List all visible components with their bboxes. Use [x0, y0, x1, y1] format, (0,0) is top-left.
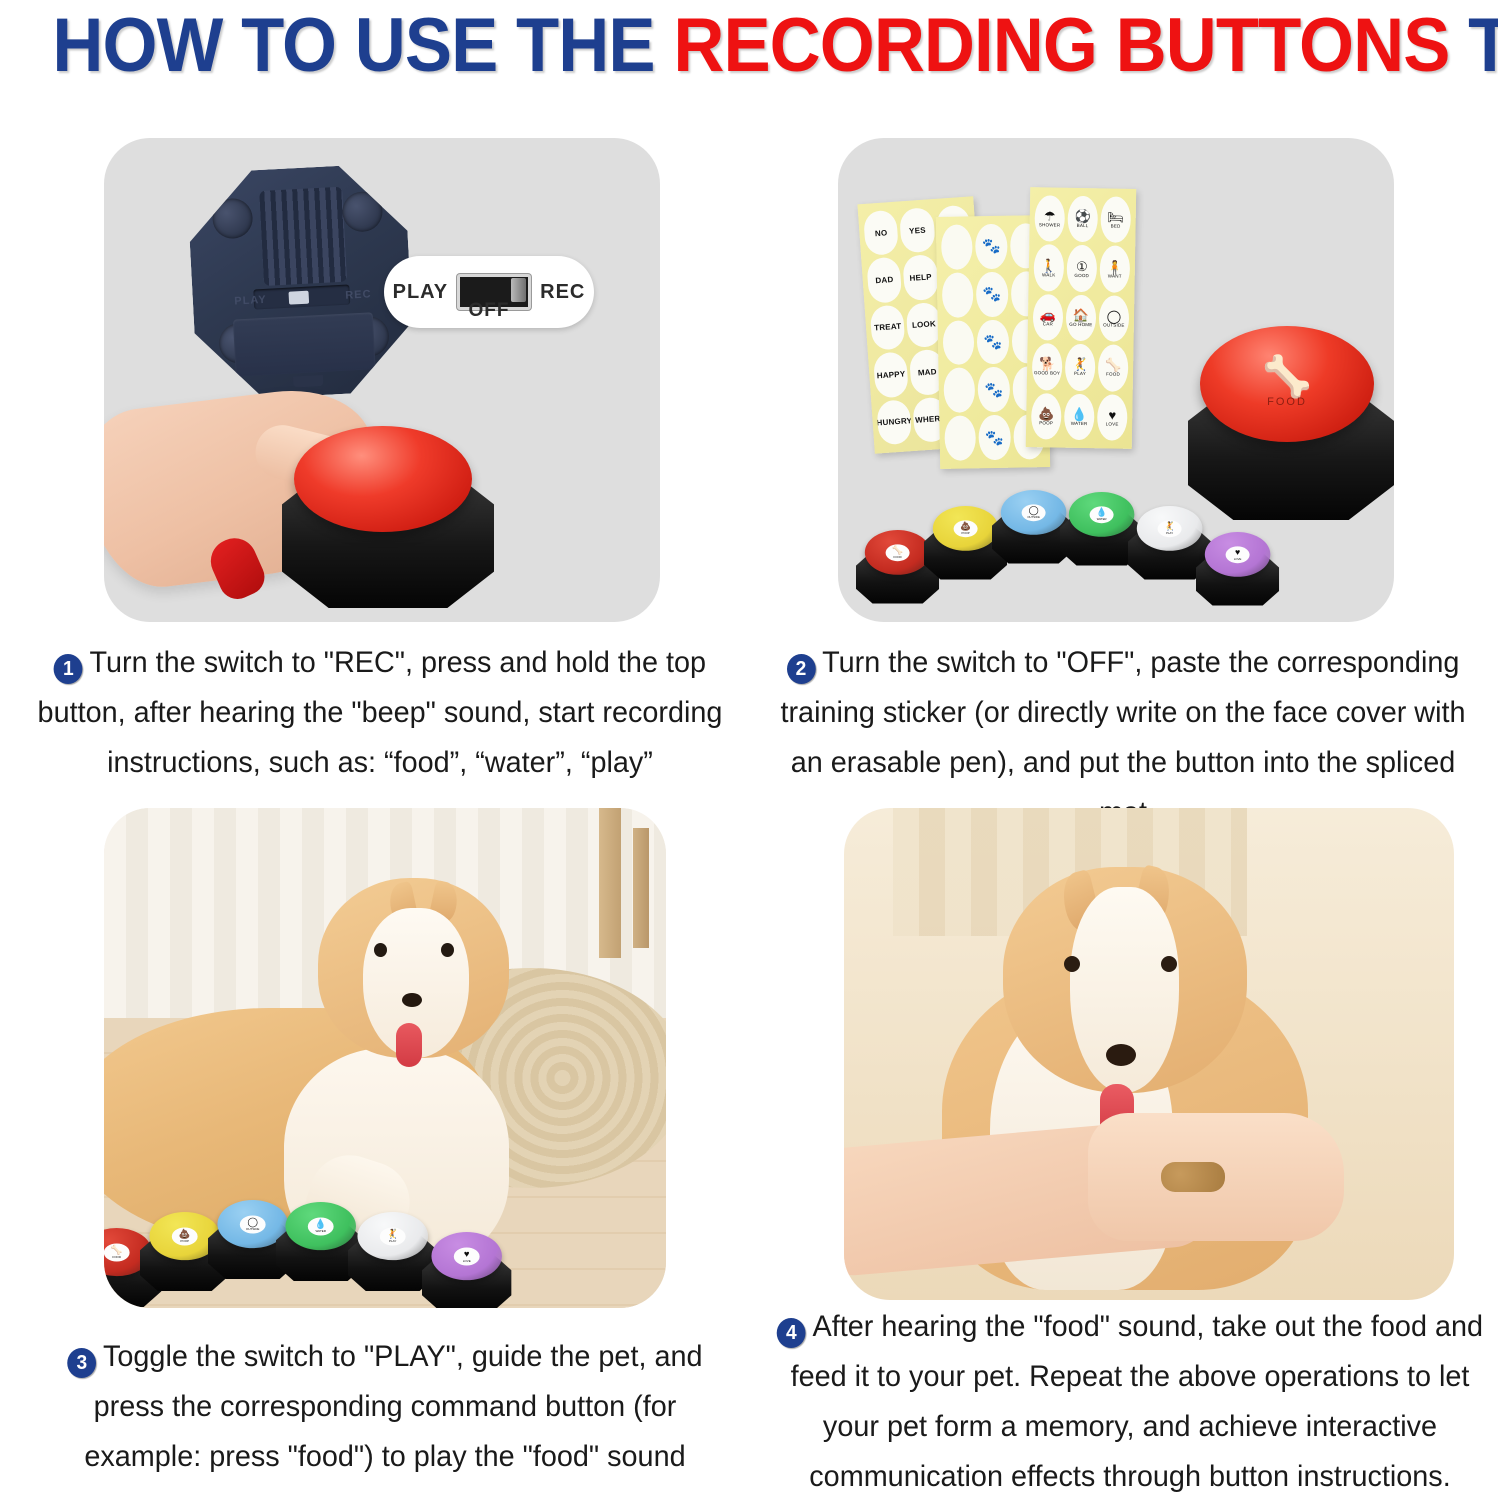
corgi-eye-left: [374, 943, 387, 957]
button-label: FOOD: [894, 555, 902, 558]
word-sticker: HUNGRY: [876, 399, 912, 446]
red-record-button-step1[interactable]: [294, 426, 472, 532]
dog-treats: [1161, 1162, 1225, 1192]
corgi-eye-left: [1064, 956, 1080, 972]
sticker-glyph-icon: ⚽: [1075, 210, 1091, 223]
step-1-image: PLAY REC PLAY REC OFF: [104, 138, 660, 622]
sticker-disc: 💩POOP: [954, 520, 978, 537]
button-label: PLAY: [389, 1239, 396, 1242]
bone-icon: 🦴: [1262, 360, 1312, 394]
blank-sticker: [944, 416, 976, 461]
button-glyph-icon: 💩: [179, 1230, 191, 1239]
paw-print-sticker: 🐾: [975, 224, 1007, 269]
device-play-mark: PLAY: [234, 294, 267, 308]
sticker-label: BALL: [1077, 223, 1089, 228]
button-glyph-icon: 💩: [960, 522, 971, 531]
food-label: FOOD: [1267, 396, 1307, 408]
button-glyph-icon: 🤾: [1164, 522, 1175, 531]
button-cap[interactable]: ◯OUTSIDE: [1001, 490, 1067, 535]
red-food-button[interactable]: 🦴 FOOD: [1200, 326, 1374, 442]
title-part-3: TO TRAIN PETS: [1449, 3, 1498, 88]
button-glyph-icon: 🦴: [111, 1246, 123, 1255]
step-1-caption: 1Turn the switch to "REC", press and hol…: [25, 638, 735, 788]
sticker-label: LOVE: [1106, 421, 1119, 426]
sticker-label: WATER: [1071, 421, 1088, 426]
sticker-disc: ◯OUTSIDE: [240, 1215, 266, 1233]
button-cap[interactable]: 💧WATER: [285, 1202, 356, 1250]
button-cap[interactable]: 💧WATER: [1069, 492, 1135, 537]
sticker-glyph-icon: 🦴: [1105, 359, 1121, 372]
button-glyph-icon: ◯: [1029, 506, 1039, 515]
button-glyph-icon: 🤾: [387, 1230, 399, 1239]
switch-callout: PLAY REC OFF: [384, 256, 594, 328]
button-label: LOVE: [463, 1259, 471, 1262]
battery-lid: [233, 313, 375, 377]
icon-sticker-car: 🚗CAR: [1033, 294, 1064, 341]
sticker-label: FOOD: [1106, 372, 1120, 377]
button-cap[interactable]: 🦴FOOD: [865, 530, 931, 575]
button-label: LOVE: [1234, 557, 1241, 560]
icon-sticker-ball: ⚽BALL: [1067, 196, 1098, 243]
button-label: WATER: [315, 1229, 326, 1232]
icon-sticker-go-home: 🏠GO HOME: [1066, 295, 1097, 342]
sticker-label: WANT: [1108, 273, 1122, 278]
button-cap[interactable]: 🤾PLAY: [357, 1212, 428, 1260]
sticker-glyph-icon: 💩: [1038, 407, 1054, 420]
infographic-page: HOW TO USE THE RECORDING BUTTONS TO TRAI…: [0, 0, 1498, 1498]
icon-sticker-poop: 💩POOP: [1031, 393, 1062, 440]
blank-sticker: [943, 368, 975, 413]
sticker-glyph-icon: 💧: [1071, 408, 1087, 421]
sticker-disc: 💩POOP: [172, 1227, 198, 1245]
button-cap[interactable]: ♥LOVE: [431, 1232, 502, 1280]
step-number-1: 1: [54, 654, 83, 684]
paw-print-sticker: 🐾: [978, 367, 1010, 412]
icon-sticker-grid: ☂SHOWER⚽BALL🛏BED🚶WALK①GOOD🧍WANT🚗CAR🏠GO H…: [1031, 195, 1131, 441]
sticker-disc: 🦴FOOD: [104, 1243, 130, 1261]
battery-lid-tab: [293, 374, 324, 387]
step-4-caption: 4After hearing the "food" sound, take ou…: [777, 1302, 1484, 1502]
sticker-glyph-icon: 🏠: [1073, 309, 1089, 322]
furniture-leg: [633, 828, 649, 948]
sticker-label: CAR: [1043, 321, 1053, 326]
icon-sticker-sheet: ☂SHOWER⚽BALL🛏BED🚶WALK①GOOD🧍WANT🚗CAR🏠GO H…: [1026, 187, 1137, 449]
speaker-vents: [259, 186, 347, 286]
room-scene-3: 🦴FOOD💩POOP◯OUTSIDE💧WATER🤾PLAY♥LOVE: [104, 808, 666, 1308]
button-glyph-icon: ♥: [464, 1250, 470, 1259]
button-cap[interactable]: ♥LOVE: [1205, 532, 1271, 577]
sticker-glyph-icon: 🛏: [1107, 211, 1124, 224]
sticker-label: GOOD: [1074, 272, 1089, 277]
step-3-image: 🦴FOOD💩POOP◯OUTSIDE💧WATER🤾PLAY♥LOVE: [104, 808, 666, 1308]
sticker-disc: 💧WATER: [308, 1217, 334, 1235]
word-sticker: NO: [863, 210, 899, 257]
button-label: PLAY: [1166, 531, 1173, 534]
switch-slider-knob: [511, 278, 526, 302]
word-sticker: HELP: [903, 254, 939, 301]
page-title: HOW TO USE THE RECORDING BUTTONS TO TRAI…: [52, 2, 1445, 89]
sticker-label: WALK: [1042, 272, 1055, 277]
sticker-glyph-icon: 🧍: [1107, 260, 1123, 273]
button-label: POOP: [180, 1239, 189, 1242]
recordable-button-love[interactable]: ♥LOVE: [1196, 532, 1279, 609]
step-number-2: 2: [787, 654, 816, 684]
sticker-label: POOP: [1039, 420, 1053, 425]
sticker-glyph-icon: 🐕: [1039, 358, 1055, 371]
button-label: OUTSIDE: [246, 1227, 259, 1230]
icon-sticker-outside: ◯OUTSIDE: [1099, 295, 1130, 342]
button-label: FOOD: [112, 1255, 121, 1258]
corgi-tongue: [396, 1023, 422, 1067]
sticker-glyph-icon: ①: [1076, 260, 1088, 273]
sticker-glyph-icon: ♥: [1108, 408, 1116, 421]
recordable-button-love[interactable]: ♥LOVE: [422, 1232, 511, 1308]
step-4-image: [844, 808, 1454, 1300]
sticker-label: PLAY: [1074, 371, 1086, 376]
sticker-label: BED: [1111, 224, 1121, 229]
word-sticker: HAPPY: [873, 351, 909, 398]
sticker-disc: ♥LOVE: [1226, 546, 1250, 563]
button-label: OUTSIDE: [1027, 515, 1039, 518]
button-label: WATER: [1097, 517, 1107, 520]
step-2-image: NOYESMOMDADHELPCTREATLOOKBHAPPYMADHUNGRY…: [838, 138, 1394, 622]
button-glyph-icon: ♥: [1235, 548, 1240, 557]
device-rec-mark: REC: [345, 289, 372, 302]
button-cap[interactable]: 🤾PLAY: [1137, 506, 1203, 551]
step-number-3: 3: [67, 1348, 96, 1378]
sticker-disc: 🦴FOOD: [886, 544, 910, 561]
sticker-glyph-icon: 🤾: [1072, 358, 1088, 371]
button-glyph-icon: 🦴: [892, 546, 903, 555]
corgi-nose: [402, 993, 422, 1007]
sticker-glyph-icon: 🚶: [1041, 259, 1057, 272]
callout-off-label: OFF: [384, 300, 594, 322]
icon-sticker-love: ♥LOVE: [1097, 394, 1128, 441]
word-sticker: TREAT: [870, 304, 906, 351]
sticker-glyph-icon: 🚗: [1040, 308, 1056, 321]
icon-sticker-food: 🦴FOOD: [1098, 344, 1129, 391]
icon-sticker-shower: ☂SHOWER: [1034, 195, 1065, 242]
sticker-label: GOOD BOY: [1034, 371, 1060, 376]
icon-sticker-good-boy: 🐕GOOD BOY: [1032, 343, 1063, 390]
icon-sticker-water: 💧WATER: [1064, 393, 1095, 440]
sticker-label: SHOWER: [1039, 222, 1061, 227]
sticker-disc: 💧WATER: [1090, 506, 1114, 523]
device-back-housing: PLAY REC: [186, 162, 416, 401]
icon-sticker-walk: 🚶WALK: [1033, 245, 1064, 292]
step-2-text: Turn the switch to "OFF", paste the corr…: [780, 646, 1465, 829]
button-cap[interactable]: 💩POOP: [933, 506, 999, 551]
physical-mode-switch[interactable]: [288, 291, 308, 305]
icon-sticker-want: 🧍WANT: [1099, 246, 1130, 293]
sticker-disc: 🤾PLAY: [380, 1227, 406, 1245]
sticker-glyph-icon: ☂: [1044, 210, 1056, 223]
sticker-label: OUTSIDE: [1103, 322, 1124, 327]
title-part-1: HOW TO USE THE: [52, 3, 673, 88]
corgi-eye-right: [1161, 956, 1177, 972]
blank-sticker: [941, 224, 973, 269]
button-label: POOP: [962, 531, 970, 534]
step-4-text: After hearing the "food" sound, take out…: [791, 1310, 1483, 1493]
step-3-caption: 3Toggle the switch to "PLAY", guide the …: [35, 1332, 736, 1482]
blank-sticker: [943, 320, 975, 365]
sticker-disc: ♥LOVE: [454, 1247, 480, 1265]
sticker-disc: 🤾PLAY: [1158, 520, 1182, 537]
sticker-disc: ◯OUTSIDE: [1022, 504, 1046, 521]
step-number-4: 4: [777, 1318, 806, 1348]
paw-print-sticker: 🐾: [976, 272, 1008, 317]
icon-sticker-bed: 🛏BED: [1100, 196, 1131, 243]
rubber-foot: [341, 191, 383, 233]
sticker-glyph-icon: ◯: [1107, 309, 1122, 322]
step-3-text: Toggle the switch to "PLAY", guide the p…: [84, 1340, 702, 1473]
word-sticker: YES: [899, 207, 935, 254]
paw-print-sticker: 🐾: [979, 415, 1011, 460]
blank-sticker: [942, 272, 974, 317]
icon-sticker-play: 🤾PLAY: [1065, 344, 1096, 391]
button-glyph-icon: 💧: [315, 1220, 327, 1229]
sticker-label: GO HOME: [1069, 322, 1092, 327]
button-glyph-icon: 💧: [1096, 508, 1107, 517]
rubber-foot: [212, 198, 254, 240]
title-part-2-highlight: RECORDING BUTTONS: [673, 3, 1449, 88]
icon-sticker-good: ①GOOD: [1066, 245, 1097, 292]
step-1-text: Turn the switch to "REC", press and hold…: [38, 646, 723, 779]
paw-print-sticker: 🐾: [977, 319, 1009, 364]
word-sticker: DAD: [866, 257, 902, 304]
button-glyph-icon: ◯: [247, 1218, 258, 1227]
room-scene-4: [844, 808, 1454, 1300]
furniture-leg: [599, 808, 621, 958]
